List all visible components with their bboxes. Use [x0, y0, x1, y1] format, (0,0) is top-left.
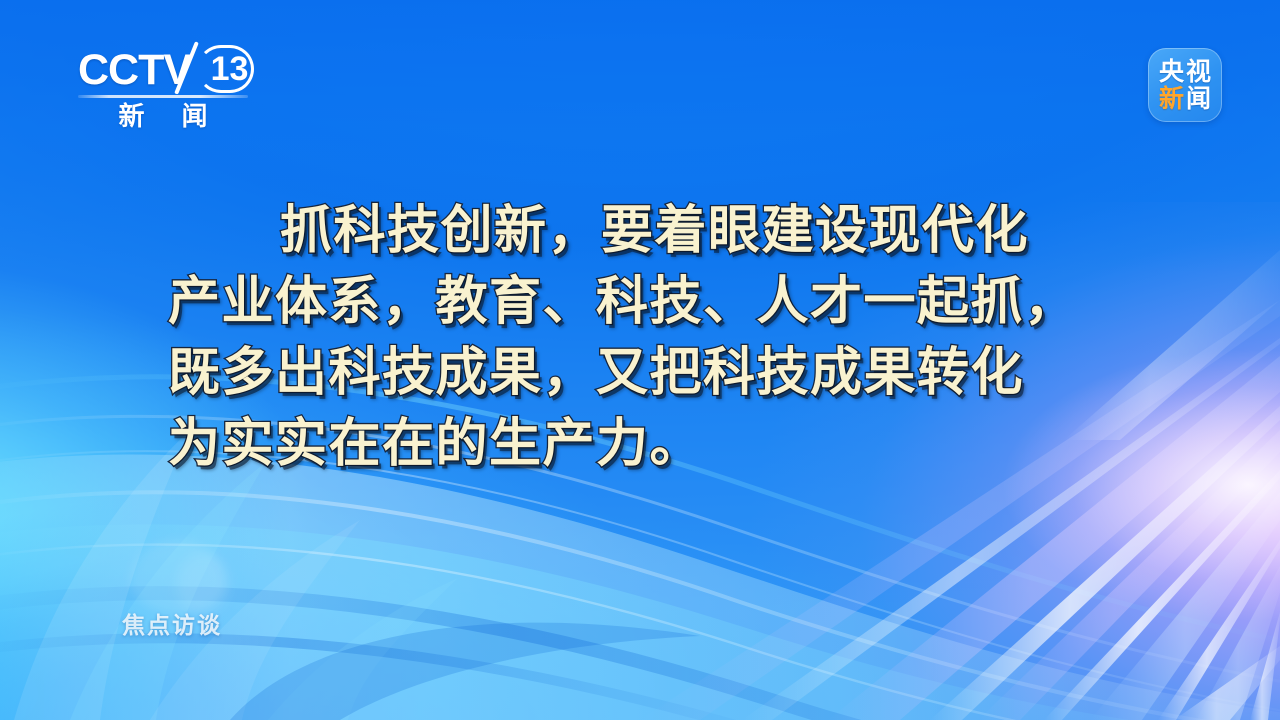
quote-line-4: 为实实在在的生产力。 — [168, 409, 1098, 480]
cctv-logo-row: CCTV 13 — [78, 44, 254, 94]
broadcast-frame: CCTV 13 新 闻 央 视 新 闻 抓科技创新，要着眼建设现代化 产业体系，… — [0, 0, 1280, 720]
channel-number: 13 — [197, 45, 254, 93]
news-badge-char-xin: 新 — [1159, 86, 1184, 112]
quote-line-1: 抓科技创新，要着眼建设现代化 — [168, 196, 1098, 267]
cctv-logo-underline — [78, 95, 248, 98]
cctv-wordmark: CCTV — [78, 49, 191, 92]
news-badge-char-shi: 视 — [1186, 59, 1211, 85]
channel-subtitle: 新 闻 — [78, 104, 248, 131]
news-badge-char-wen: 闻 — [1186, 86, 1211, 112]
news-badge-line-two: 新 闻 — [1159, 86, 1211, 112]
cctv-news-app-badge: 央 视 新 闻 — [1148, 48, 1222, 122]
quote-line-2: 产业体系，教育、科技、人才一起抓， — [168, 267, 1098, 338]
news-badge-char-yang: 央 — [1159, 59, 1184, 85]
channel-number-pill: 13 — [197, 45, 254, 93]
quote-overlay: 抓科技创新，要着眼建设现代化 产业体系，教育、科技、人才一起抓， 既多出科技成果… — [168, 196, 1098, 480]
quote-line-3: 既多出科技成果，又把科技成果转化 — [168, 338, 1098, 409]
cctv13-channel-logo: CCTV 13 新 闻 — [78, 44, 254, 132]
program-name-watermark: 焦点访谈 — [122, 606, 222, 640]
news-badge-line-one: 央 视 — [1159, 59, 1211, 85]
